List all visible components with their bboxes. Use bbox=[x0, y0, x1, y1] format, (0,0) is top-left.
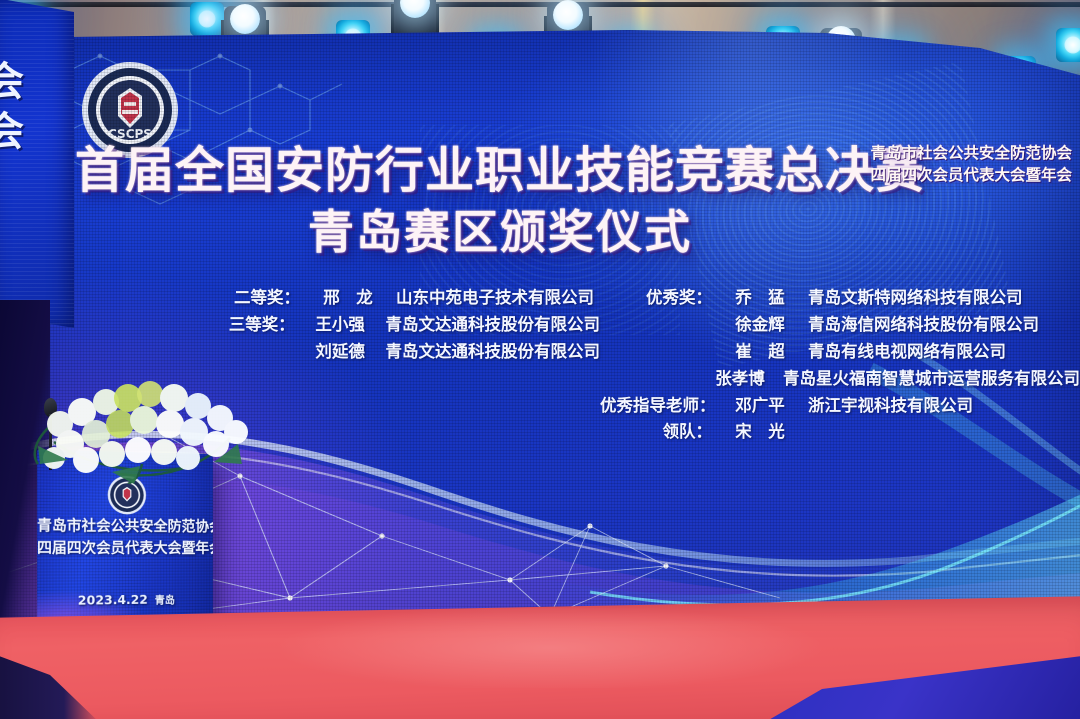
award-name: 王小强 bbox=[295, 312, 386, 339]
headline-line-1: 首届全国安防行业职业技能竞赛总决赛 bbox=[0, 144, 1000, 199]
award-org: 青岛有线电视网络有限公司 bbox=[808, 339, 1006, 366]
award-org: 青岛文斯特网络科技有限公司 bbox=[808, 285, 1023, 312]
podium-title: 青岛市社会公共安全防范协会 四届四次会员代表大会暨年会 bbox=[37, 515, 213, 561]
award-label: 三等奖： bbox=[222, 312, 295, 339]
award-name: 乔 猛 bbox=[712, 285, 808, 312]
floral-arrangement bbox=[24, 372, 256, 484]
award-label: 优秀指导老师： bbox=[600, 393, 712, 420]
par-light bbox=[1056, 28, 1080, 62]
award-row: 崔 超 青岛有线电视网络有限公司 bbox=[600, 339, 1080, 366]
association-banner-line-2: 四届四次会员代表大会暨年会 bbox=[870, 164, 1072, 186]
award-row: 优秀奖： 乔 猛 青岛文斯特网络科技有限公司 bbox=[600, 285, 1080, 312]
award-name: 邓广平 bbox=[712, 393, 808, 420]
award-column-right: 优秀奖： 乔 猛 青岛文斯特网络科技有限公司 徐金辉 青岛海信网络科技股份有限公… bbox=[600, 285, 1080, 446]
award-row: 优秀指导老师： 邓广平 浙江宇视科技有限公司 bbox=[600, 393, 1080, 420]
award-org: 青岛文达通科技股份有限公司 bbox=[386, 339, 601, 366]
side-panel-char-1: 会 bbox=[0, 62, 24, 102]
award-row: 领队： 宋 光 bbox=[600, 419, 1080, 446]
award-org: 青岛文达通科技股份有限公司 bbox=[386, 312, 601, 339]
award-row: 二等奖： 邢 龙 山东中苑电子技术有限公司 bbox=[222, 285, 600, 312]
award-name: 邢 龙 bbox=[300, 285, 396, 312]
award-org: 青岛海信网络科技股份有限公司 bbox=[808, 312, 1039, 339]
podium-date: 2023.4.22 bbox=[78, 592, 148, 608]
award-row: 张孝博 青岛星火福南智慧城市运营服务有限公司 bbox=[600, 366, 1080, 393]
association-banner: 青岛市社会公共安全防范协会 四届四次会员代表大会暨年会 bbox=[870, 142, 1072, 187]
stage-photo: CSCPS 会 会 首届全国安防行业职业技能竞赛总决赛 青岛赛区颁奖仪式 青岛市… bbox=[0, 0, 1080, 719]
award-org: 浙江宇视科技有限公司 bbox=[808, 393, 973, 420]
award-org: 青岛星火福南智慧城市运营服务有限公司 bbox=[783, 366, 1080, 393]
headline-block: 首届全国安防行业职业技能竞赛总决赛 青岛赛区颁奖仪式 bbox=[0, 144, 1000, 258]
award-name: 张孝博 bbox=[697, 366, 783, 393]
award-name: 刘延德 bbox=[295, 339, 386, 366]
award-org: 山东中苑电子技术有限公司 bbox=[396, 285, 594, 312]
award-row: 刘延德 青岛文达通科技股份有限公司 bbox=[222, 339, 600, 366]
headline-line-2: 青岛赛区颁奖仪式 bbox=[0, 207, 1000, 259]
award-name: 崔 超 bbox=[712, 339, 808, 366]
award-name: 宋 光 bbox=[712, 419, 808, 446]
podium-title-line-1: 青岛市社会公共安全防范协会 bbox=[37, 515, 213, 539]
podium-city: 青岛 bbox=[155, 594, 175, 606]
award-label: 二等奖： bbox=[222, 285, 300, 312]
podium-date-row: 2023.4.22青岛 bbox=[37, 591, 213, 609]
association-banner-line-1: 青岛市社会公共安全防范协会 bbox=[870, 142, 1072, 164]
par-light bbox=[190, 2, 224, 36]
award-label: 优秀奖： bbox=[600, 285, 712, 312]
award-label: 领队： bbox=[600, 419, 712, 446]
svg-text:CSCPS: CSCPS bbox=[108, 127, 152, 141]
award-row: 三等奖： 王小强 青岛文达通科技股份有限公司 bbox=[222, 312, 600, 339]
award-name: 徐金辉 bbox=[712, 312, 808, 339]
podium-title-line-2: 四届四次会员代表大会暨年会 bbox=[37, 538, 213, 561]
award-row: 徐金辉 青岛海信网络科技股份有限公司 bbox=[600, 312, 1080, 339]
